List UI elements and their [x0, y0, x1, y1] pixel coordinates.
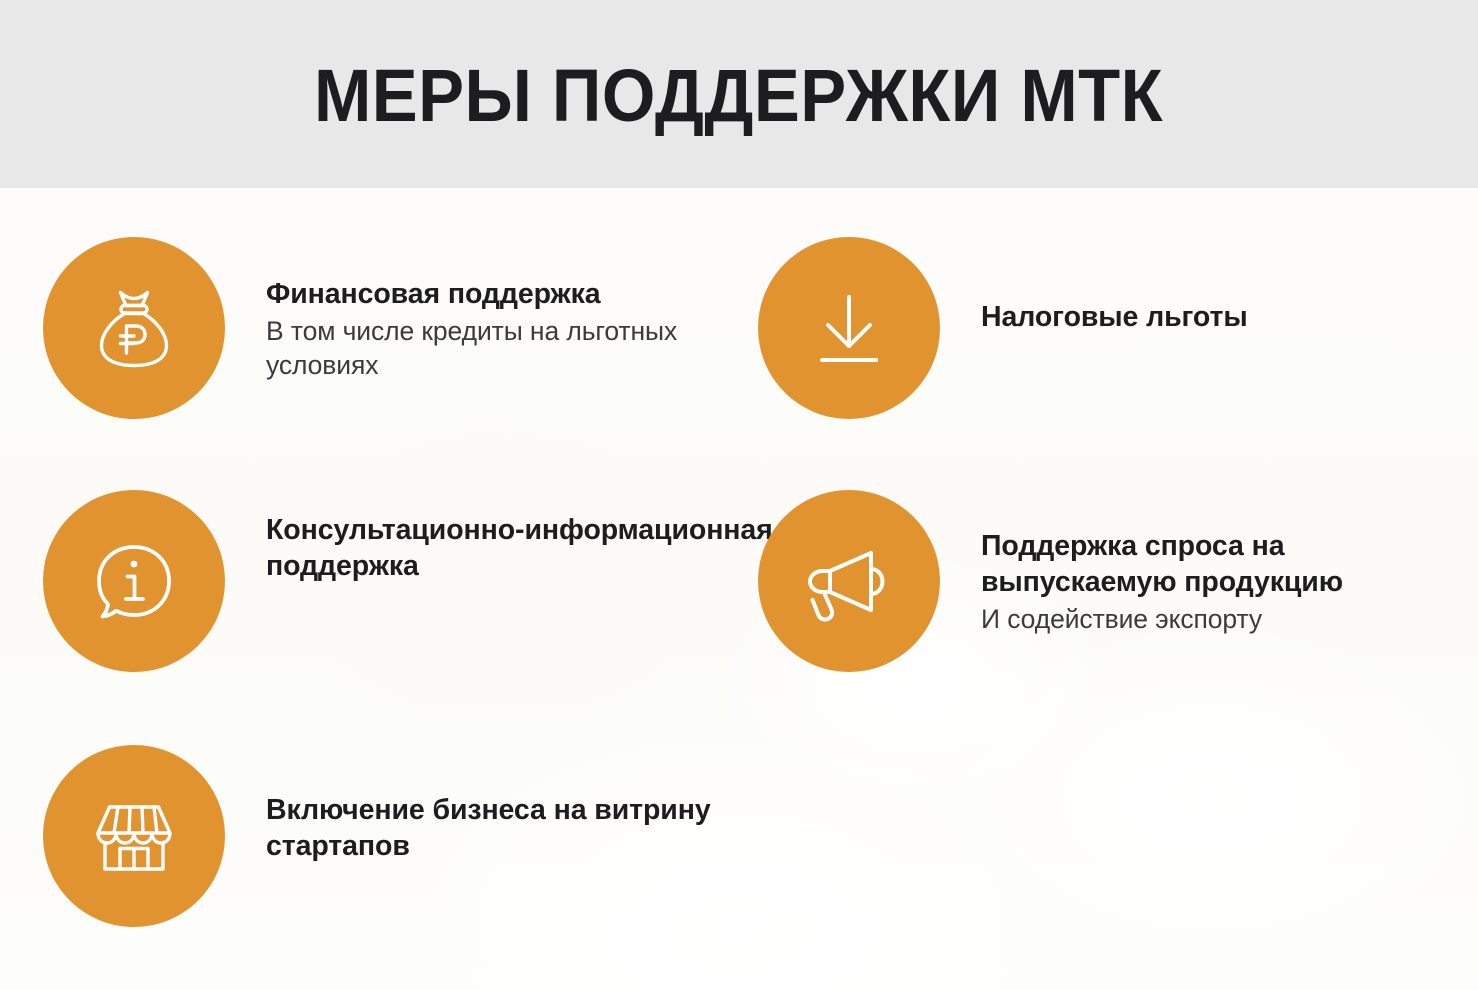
measure-text-block: Финансовая поддержка В том числе кредиты…: [266, 237, 786, 382]
measure-card-startup-showcase[interactable]: Включение бизнеса на витрину стартапов: [43, 745, 786, 927]
measure-card-financial-support[interactable]: Финансовая поддержка В том числе кредиты…: [43, 237, 786, 419]
measure-card-consulting-support[interactable]: Консультационно-информационная поддержка: [43, 490, 786, 672]
measure-card-tax-benefits[interactable]: Налоговые льготы: [758, 237, 1248, 419]
slide-root: МЕРЫ ПОДДЕРЖКИ МТК Финансовая поддержка …: [0, 0, 1478, 990]
measure-subtitle: И содействие экспорту: [981, 602, 1478, 636]
measure-card-demand-support[interactable]: Поддержка спроса на выпускаемую продукци…: [758, 490, 1478, 672]
page-title: МЕРЫ ПОДДЕРЖКИ МТК: [314, 55, 1163, 133]
measure-text-block: Консультационно-информационная поддержка: [266, 490, 786, 585]
measure-title: Консультационно-информационная поддержка: [266, 513, 786, 585]
measure-title: Налоговые льготы: [981, 300, 1248, 336]
megaphone-icon: [758, 490, 940, 672]
measures-grid: Финансовая поддержка В том числе кредиты…: [0, 188, 1478, 990]
arrow-down-to-line-icon: [758, 237, 940, 419]
measure-subtitle: В том числе кредиты на льготных условиях: [266, 314, 786, 382]
header-band: МЕРЫ ПОДДЕРЖКИ МТК: [0, 0, 1478, 188]
info-speech-bubble-icon: [43, 490, 225, 672]
measure-text-block: Налоговые льготы: [981, 237, 1248, 336]
storefront-icon: [43, 745, 225, 927]
measure-text-block: Включение бизнеса на витрину стартапов: [266, 745, 786, 865]
money-bag-ruble-icon: [43, 237, 225, 419]
measure-title: Включение бизнеса на витрину стартапов: [266, 793, 786, 865]
measure-title: Поддержка спроса на выпускаемую продукци…: [981, 529, 1478, 601]
measure-title: Финансовая поддержка: [266, 277, 786, 313]
measure-text-block: Поддержка спроса на выпускаемую продукци…: [981, 490, 1478, 636]
